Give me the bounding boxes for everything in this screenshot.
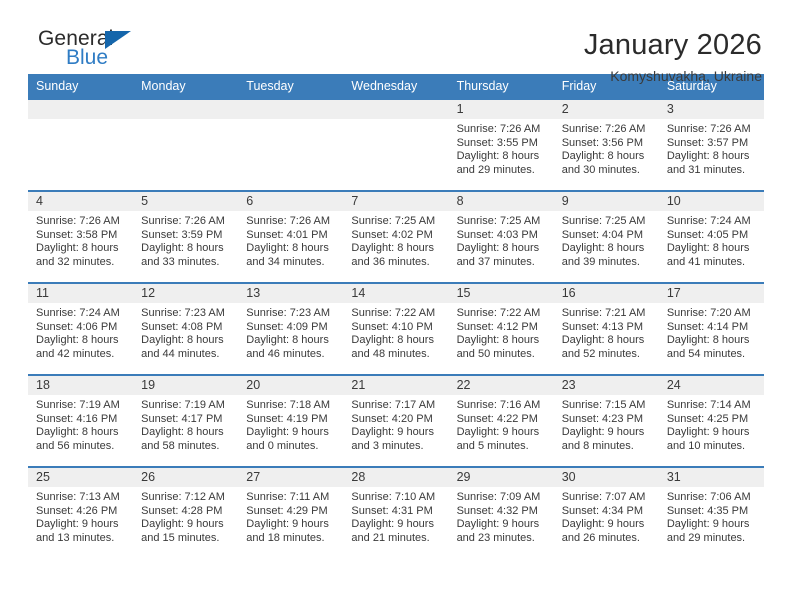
day-detail-line: Daylight: 8 hours <box>667 150 758 164</box>
day-detail-line: and 31 minutes. <box>667 164 758 178</box>
day-number: 17 <box>659 284 764 303</box>
day-number: 28 <box>343 468 448 487</box>
day-sun-details: Sunrise: 7:22 AMSunset: 4:12 PMDaylight:… <box>449 303 554 361</box>
day-detail-line: Daylight: 8 hours <box>141 334 232 348</box>
day-sun-details: Sunrise: 7:26 AMSunset: 3:56 PMDaylight:… <box>554 119 659 177</box>
day-detail-line: Sunset: 4:35 PM <box>667 505 758 519</box>
day-cell-inner: 14Sunrise: 7:22 AMSunset: 4:10 PMDayligh… <box>343 284 448 374</box>
calendar-day-cell-empty <box>238 99 343 191</box>
day-detail-line: Sunset: 3:58 PM <box>36 229 127 243</box>
day-sun-details: Sunrise: 7:25 AMSunset: 4:04 PMDaylight:… <box>554 211 659 269</box>
day-sun-details: Sunrise: 7:19 AMSunset: 4:17 PMDaylight:… <box>133 395 238 453</box>
day-number: 26 <box>133 468 238 487</box>
day-detail-line: Daylight: 8 hours <box>36 334 127 348</box>
day-detail-line: and 5 minutes. <box>457 440 548 454</box>
day-detail-line: Sunrise: 7:18 AM <box>246 399 337 413</box>
day-detail-line: and 56 minutes. <box>36 440 127 454</box>
day-detail-line: Sunrise: 7:11 AM <box>246 491 337 505</box>
day-detail-line: Daylight: 9 hours <box>562 518 653 532</box>
day-detail-line: and 58 minutes. <box>141 440 232 454</box>
day-cell-inner: 21Sunrise: 7:17 AMSunset: 4:20 PMDayligh… <box>343 376 448 466</box>
day-detail-line: and 15 minutes. <box>141 532 232 546</box>
calendar-day-cell[interactable]: 20Sunrise: 7:18 AMSunset: 4:19 PMDayligh… <box>238 375 343 467</box>
day-number: 22 <box>449 376 554 395</box>
day-number: 5 <box>133 192 238 211</box>
day-sun-details: Sunrise: 7:23 AMSunset: 4:09 PMDaylight:… <box>238 303 343 361</box>
day-number: 6 <box>238 192 343 211</box>
day-detail-line: Sunrise: 7:12 AM <box>141 491 232 505</box>
calendar-day-cell[interactable]: 15Sunrise: 7:22 AMSunset: 4:12 PMDayligh… <box>449 283 554 375</box>
day-detail-line: Sunrise: 7:26 AM <box>667 123 758 137</box>
calendar-week-row: 11Sunrise: 7:24 AMSunset: 4:06 PMDayligh… <box>28 283 764 375</box>
day-cell-inner: 28Sunrise: 7:10 AMSunset: 4:31 PMDayligh… <box>343 468 448 559</box>
day-detail-line: Daylight: 9 hours <box>351 518 442 532</box>
day-cell-inner: 23Sunrise: 7:15 AMSunset: 4:23 PMDayligh… <box>554 376 659 466</box>
day-cell-inner: 24Sunrise: 7:14 AMSunset: 4:25 PMDayligh… <box>659 376 764 466</box>
day-detail-line: Sunrise: 7:23 AM <box>141 307 232 321</box>
day-detail-line: and 50 minutes. <box>457 348 548 362</box>
day-number: 29 <box>449 468 554 487</box>
calendar-day-cell[interactable]: 9Sunrise: 7:25 AMSunset: 4:04 PMDaylight… <box>554 191 659 283</box>
day-detail-line: Sunset: 4:14 PM <box>667 321 758 335</box>
day-detail-line: and 34 minutes. <box>246 256 337 270</box>
day-detail-line: Daylight: 9 hours <box>457 518 548 532</box>
day-detail-line: Sunset: 4:34 PM <box>562 505 653 519</box>
day-detail-line: Daylight: 9 hours <box>246 426 337 440</box>
day-detail-line: Sunset: 4:09 PM <box>246 321 337 335</box>
day-cell-inner: 16Sunrise: 7:21 AMSunset: 4:13 PMDayligh… <box>554 284 659 374</box>
day-detail-line: and 21 minutes. <box>351 532 442 546</box>
day-detail-line: Sunset: 3:57 PM <box>667 137 758 151</box>
logo-text-blue: Blue <box>38 48 198 68</box>
calendar-day-cell[interactable]: 29Sunrise: 7:09 AMSunset: 4:32 PMDayligh… <box>449 467 554 559</box>
day-number: 7 <box>343 192 448 211</box>
day-detail-line: and 0 minutes. <box>246 440 337 454</box>
day-detail-line: and 39 minutes. <box>562 256 653 270</box>
day-number: 20 <box>238 376 343 395</box>
day-number: 11 <box>28 284 133 303</box>
day-detail-line: Daylight: 8 hours <box>246 242 337 256</box>
calendar-day-cell[interactable]: 12Sunrise: 7:23 AMSunset: 4:08 PMDayligh… <box>133 283 238 375</box>
day-detail-line: Sunset: 4:20 PM <box>351 413 442 427</box>
calendar-day-cell[interactable]: 24Sunrise: 7:14 AMSunset: 4:25 PMDayligh… <box>659 375 764 467</box>
title-block: January 2026 Komyshuvakha, Ukraine <box>584 28 764 86</box>
day-sun-details: Sunrise: 7:07 AMSunset: 4:34 PMDaylight:… <box>554 487 659 545</box>
day-detail-line: Sunset: 4:26 PM <box>36 505 127 519</box>
weekday-header-wednesday: Wednesday <box>343 74 448 99</box>
day-detail-line: and 26 minutes. <box>562 532 653 546</box>
day-detail-line: Sunset: 3:55 PM <box>457 137 548 151</box>
day-detail-line: Sunrise: 7:21 AM <box>562 307 653 321</box>
day-detail-line: Sunset: 4:13 PM <box>562 321 653 335</box>
calendar-day-cell[interactable]: 31Sunrise: 7:06 AMSunset: 4:35 PMDayligh… <box>659 467 764 559</box>
day-detail-line: Daylight: 8 hours <box>141 426 232 440</box>
day-detail-line: Daylight: 9 hours <box>141 518 232 532</box>
calendar-day-cell[interactable]: 17Sunrise: 7:20 AMSunset: 4:14 PMDayligh… <box>659 283 764 375</box>
day-cell-inner: 15Sunrise: 7:22 AMSunset: 4:12 PMDayligh… <box>449 284 554 374</box>
day-cell-inner: 10Sunrise: 7:24 AMSunset: 4:05 PMDayligh… <box>659 192 764 282</box>
calendar-day-cell-empty <box>133 99 238 191</box>
day-sun-details: Sunrise: 7:22 AMSunset: 4:10 PMDaylight:… <box>343 303 448 361</box>
day-sun-details: Sunrise: 7:11 AMSunset: 4:29 PMDaylight:… <box>238 487 343 545</box>
day-cell-inner: 8Sunrise: 7:25 AMSunset: 4:03 PMDaylight… <box>449 192 554 282</box>
day-detail-line: and 44 minutes. <box>141 348 232 362</box>
day-detail-line: Sunrise: 7:07 AM <box>562 491 653 505</box>
day-sun-details: Sunrise: 7:26 AMSunset: 3:55 PMDaylight:… <box>449 119 554 177</box>
day-detail-line: Daylight: 9 hours <box>667 426 758 440</box>
day-detail-line: and 33 minutes. <box>141 256 232 270</box>
calendar-week-row: 4Sunrise: 7:26 AMSunset: 3:58 PMDaylight… <box>28 191 764 283</box>
day-detail-line: Sunset: 4:23 PM <box>562 413 653 427</box>
day-cell-inner: 17Sunrise: 7:20 AMSunset: 4:14 PMDayligh… <box>659 284 764 374</box>
day-detail-line: Sunrise: 7:22 AM <box>351 307 442 321</box>
day-sun-details: Sunrise: 7:18 AMSunset: 4:19 PMDaylight:… <box>238 395 343 453</box>
day-cell-inner: 11Sunrise: 7:24 AMSunset: 4:06 PMDayligh… <box>28 284 133 374</box>
day-detail-line: Daylight: 9 hours <box>246 518 337 532</box>
day-number: 24 <box>659 376 764 395</box>
day-sun-details: Sunrise: 7:20 AMSunset: 4:14 PMDaylight:… <box>659 303 764 361</box>
day-sun-details: Sunrise: 7:24 AMSunset: 4:05 PMDaylight:… <box>659 211 764 269</box>
page-header: General Blue January 2026 Komyshuvakha, … <box>28 0 764 74</box>
day-sun-details: Sunrise: 7:26 AMSunset: 4:01 PMDaylight:… <box>238 211 343 269</box>
day-sun-details <box>28 119 133 123</box>
day-sun-details: Sunrise: 7:17 AMSunset: 4:20 PMDaylight:… <box>343 395 448 453</box>
day-number: 19 <box>133 376 238 395</box>
day-detail-line: Sunset: 4:03 PM <box>457 229 548 243</box>
day-detail-line: Sunset: 3:56 PM <box>562 137 653 151</box>
day-sun-details: Sunrise: 7:12 AMSunset: 4:28 PMDaylight:… <box>133 487 238 545</box>
day-sun-details: Sunrise: 7:21 AMSunset: 4:13 PMDaylight:… <box>554 303 659 361</box>
day-detail-line: Sunset: 4:01 PM <box>246 229 337 243</box>
day-sun-details: Sunrise: 7:09 AMSunset: 4:32 PMDaylight:… <box>449 487 554 545</box>
calendar-day-cell[interactable]: 25Sunrise: 7:13 AMSunset: 4:26 PMDayligh… <box>28 467 133 559</box>
day-sun-details: Sunrise: 7:26 AMSunset: 3:58 PMDaylight:… <box>28 211 133 269</box>
day-detail-line: and 3 minutes. <box>351 440 442 454</box>
general-blue-logo: General Blue <box>28 28 198 80</box>
day-detail-line: and 37 minutes. <box>457 256 548 270</box>
day-detail-line: and 30 minutes. <box>562 164 653 178</box>
day-detail-line: Sunset: 4:08 PM <box>141 321 232 335</box>
day-detail-line: Sunrise: 7:09 AM <box>457 491 548 505</box>
day-detail-line: and 36 minutes. <box>351 256 442 270</box>
day-number: 10 <box>659 192 764 211</box>
day-detail-line: Sunrise: 7:13 AM <box>36 491 127 505</box>
day-number: 31 <box>659 468 764 487</box>
day-detail-line: Sunset: 4:16 PM <box>36 413 127 427</box>
day-cell-inner: 25Sunrise: 7:13 AMSunset: 4:26 PMDayligh… <box>28 468 133 559</box>
day-detail-line: Sunrise: 7:26 AM <box>457 123 548 137</box>
calendar-day-cell[interactable]: 3Sunrise: 7:26 AMSunset: 3:57 PMDaylight… <box>659 99 764 191</box>
day-detail-line: Sunrise: 7:06 AM <box>667 491 758 505</box>
calendar-day-cell[interactable]: 6Sunrise: 7:26 AMSunset: 4:01 PMDaylight… <box>238 191 343 283</box>
day-detail-line: Sunset: 4:05 PM <box>667 229 758 243</box>
day-cell-inner: 29Sunrise: 7:09 AMSunset: 4:32 PMDayligh… <box>449 468 554 559</box>
day-detail-line: Sunrise: 7:26 AM <box>36 215 127 229</box>
day-number: 3 <box>659 100 764 119</box>
calendar-day-cell[interactable]: 21Sunrise: 7:17 AMSunset: 4:20 PMDayligh… <box>343 375 448 467</box>
day-detail-line: and 18 minutes. <box>246 532 337 546</box>
day-cell-inner: 31Sunrise: 7:06 AMSunset: 4:35 PMDayligh… <box>659 468 764 559</box>
day-number <box>343 100 448 119</box>
day-detail-line: Sunrise: 7:23 AM <box>246 307 337 321</box>
day-sun-details: Sunrise: 7:13 AMSunset: 4:26 PMDaylight:… <box>28 487 133 545</box>
day-sun-details: Sunrise: 7:25 AMSunset: 4:02 PMDaylight:… <box>343 211 448 269</box>
day-sun-details: Sunrise: 7:14 AMSunset: 4:25 PMDaylight:… <box>659 395 764 453</box>
day-detail-line: Sunrise: 7:25 AM <box>562 215 653 229</box>
calendar-day-cell[interactable]: 26Sunrise: 7:12 AMSunset: 4:28 PMDayligh… <box>133 467 238 559</box>
day-number <box>133 100 238 119</box>
day-sun-details: Sunrise: 7:06 AMSunset: 4:35 PMDaylight:… <box>659 487 764 545</box>
day-cell-inner <box>238 100 343 190</box>
day-number <box>238 100 343 119</box>
day-detail-line: Daylight: 9 hours <box>562 426 653 440</box>
day-cell-inner: 5Sunrise: 7:26 AMSunset: 3:59 PMDaylight… <box>133 192 238 282</box>
day-detail-line: Daylight: 8 hours <box>562 242 653 256</box>
day-cell-inner: 19Sunrise: 7:19 AMSunset: 4:17 PMDayligh… <box>133 376 238 466</box>
day-detail-line: Daylight: 8 hours <box>562 334 653 348</box>
day-cell-inner <box>133 100 238 190</box>
day-detail-line: Daylight: 9 hours <box>36 518 127 532</box>
day-number: 30 <box>554 468 659 487</box>
day-number: 9 <box>554 192 659 211</box>
day-number: 8 <box>449 192 554 211</box>
day-detail-line: Sunrise: 7:25 AM <box>351 215 442 229</box>
calendar-day-cell[interactable]: 19Sunrise: 7:19 AMSunset: 4:17 PMDayligh… <box>133 375 238 467</box>
day-detail-line: and 54 minutes. <box>667 348 758 362</box>
day-detail-line: Sunrise: 7:26 AM <box>141 215 232 229</box>
calendar-day-cell[interactable]: 27Sunrise: 7:11 AMSunset: 4:29 PMDayligh… <box>238 467 343 559</box>
calendar-grid: SundayMondayTuesdayWednesdayThursdayFrid… <box>28 74 764 559</box>
day-detail-line: Daylight: 8 hours <box>457 334 548 348</box>
day-detail-line: Sunrise: 7:19 AM <box>141 399 232 413</box>
day-sun-details: Sunrise: 7:19 AMSunset: 4:16 PMDaylight:… <box>28 395 133 453</box>
day-detail-line: Sunset: 4:25 PM <box>667 413 758 427</box>
day-detail-line: Daylight: 9 hours <box>667 518 758 532</box>
day-number: 2 <box>554 100 659 119</box>
day-detail-line: Daylight: 9 hours <box>457 426 548 440</box>
day-number: 14 <box>343 284 448 303</box>
day-cell-inner: 12Sunrise: 7:23 AMSunset: 4:08 PMDayligh… <box>133 284 238 374</box>
calendar-day-cell[interactable]: 14Sunrise: 7:22 AMSunset: 4:10 PMDayligh… <box>343 283 448 375</box>
calendar-day-cell[interactable]: 28Sunrise: 7:10 AMSunset: 4:31 PMDayligh… <box>343 467 448 559</box>
day-detail-line: Daylight: 9 hours <box>351 426 442 440</box>
day-cell-inner: 2Sunrise: 7:26 AMSunset: 3:56 PMDaylight… <box>554 100 659 190</box>
day-detail-line: Daylight: 8 hours <box>667 334 758 348</box>
day-cell-inner: 1Sunrise: 7:26 AMSunset: 3:55 PMDaylight… <box>449 100 554 190</box>
day-sun-details <box>343 119 448 123</box>
day-detail-line: Sunrise: 7:25 AM <box>457 215 548 229</box>
day-cell-inner <box>343 100 448 190</box>
calendar-day-cell[interactable]: 8Sunrise: 7:25 AMSunset: 4:03 PMDaylight… <box>449 191 554 283</box>
day-detail-line: and 46 minutes. <box>246 348 337 362</box>
day-detail-line: Daylight: 8 hours <box>457 150 548 164</box>
day-detail-line: Sunset: 4:31 PM <box>351 505 442 519</box>
day-cell-inner: 7Sunrise: 7:25 AMSunset: 4:02 PMDaylight… <box>343 192 448 282</box>
day-number: 27 <box>238 468 343 487</box>
day-detail-line: Sunrise: 7:24 AM <box>36 307 127 321</box>
day-detail-line: Daylight: 8 hours <box>562 150 653 164</box>
day-number: 1 <box>449 100 554 119</box>
day-detail-line: Sunrise: 7:26 AM <box>246 215 337 229</box>
day-cell-inner: 13Sunrise: 7:23 AMSunset: 4:09 PMDayligh… <box>238 284 343 374</box>
calendar-day-cell[interactable]: 30Sunrise: 7:07 AMSunset: 4:34 PMDayligh… <box>554 467 659 559</box>
day-detail-line: and 41 minutes. <box>667 256 758 270</box>
day-cell-inner: 22Sunrise: 7:16 AMSunset: 4:22 PMDayligh… <box>449 376 554 466</box>
calendar-day-cell[interactable]: 11Sunrise: 7:24 AMSunset: 4:06 PMDayligh… <box>28 283 133 375</box>
day-number <box>28 100 133 119</box>
day-detail-line: and 10 minutes. <box>667 440 758 454</box>
day-cell-inner: 27Sunrise: 7:11 AMSunset: 4:29 PMDayligh… <box>238 468 343 559</box>
day-number: 18 <box>28 376 133 395</box>
day-detail-line: and 13 minutes. <box>36 532 127 546</box>
day-sun-details <box>133 119 238 123</box>
day-number: 25 <box>28 468 133 487</box>
day-detail-line: Daylight: 8 hours <box>351 242 442 256</box>
day-detail-line: Sunrise: 7:15 AM <box>562 399 653 413</box>
day-number: 21 <box>343 376 448 395</box>
calendar-day-cell[interactable]: 2Sunrise: 7:26 AMSunset: 3:56 PMDaylight… <box>554 99 659 191</box>
day-detail-line: Sunset: 4:04 PM <box>562 229 653 243</box>
day-detail-line: Sunrise: 7:20 AM <box>667 307 758 321</box>
day-detail-line: and 52 minutes. <box>562 348 653 362</box>
day-number: 16 <box>554 284 659 303</box>
day-detail-line: Daylight: 8 hours <box>457 242 548 256</box>
weekday-header-tuesday: Tuesday <box>238 74 343 99</box>
day-detail-line: Sunset: 4:29 PM <box>246 505 337 519</box>
day-sun-details: Sunrise: 7:16 AMSunset: 4:22 PMDaylight:… <box>449 395 554 453</box>
day-sun-details: Sunrise: 7:24 AMSunset: 4:06 PMDaylight:… <box>28 303 133 361</box>
day-detail-line: Sunrise: 7:22 AM <box>457 307 548 321</box>
day-cell-inner: 9Sunrise: 7:25 AMSunset: 4:04 PMDaylight… <box>554 192 659 282</box>
day-sun-details: Sunrise: 7:26 AMSunset: 3:59 PMDaylight:… <box>133 211 238 269</box>
day-detail-line: Daylight: 8 hours <box>667 242 758 256</box>
day-sun-details: Sunrise: 7:15 AMSunset: 4:23 PMDaylight:… <box>554 395 659 453</box>
day-number: 13 <box>238 284 343 303</box>
day-detail-line: Sunset: 4:02 PM <box>351 229 442 243</box>
day-detail-line: and 32 minutes. <box>36 256 127 270</box>
day-sun-details: Sunrise: 7:26 AMSunset: 3:57 PMDaylight:… <box>659 119 764 177</box>
calendar-day-cell-empty <box>28 99 133 191</box>
calendar-day-cell[interactable]: 13Sunrise: 7:23 AMSunset: 4:09 PMDayligh… <box>238 283 343 375</box>
day-sun-details <box>238 119 343 123</box>
calendar-day-cell[interactable]: 7Sunrise: 7:25 AMSunset: 4:02 PMDaylight… <box>343 191 448 283</box>
day-number: 15 <box>449 284 554 303</box>
calendar-page: General Blue January 2026 Komyshuvakha, … <box>0 0 792 612</box>
day-detail-line: Daylight: 8 hours <box>351 334 442 348</box>
day-cell-inner: 30Sunrise: 7:07 AMSunset: 4:34 PMDayligh… <box>554 468 659 559</box>
day-detail-line: and 29 minutes. <box>667 532 758 546</box>
day-detail-line: Sunset: 4:22 PM <box>457 413 548 427</box>
calendar-day-cell[interactable]: 4Sunrise: 7:26 AMSunset: 3:58 PMDaylight… <box>28 191 133 283</box>
calendar-day-cell[interactable]: 5Sunrise: 7:26 AMSunset: 3:59 PMDaylight… <box>133 191 238 283</box>
day-detail-line: Daylight: 8 hours <box>246 334 337 348</box>
day-cell-inner: 26Sunrise: 7:12 AMSunset: 4:28 PMDayligh… <box>133 468 238 559</box>
day-detail-line: Sunset: 4:32 PM <box>457 505 548 519</box>
day-number: 4 <box>28 192 133 211</box>
calendar-day-cell[interactable]: 18Sunrise: 7:19 AMSunset: 4:16 PMDayligh… <box>28 375 133 467</box>
day-detail-line: and 8 minutes. <box>562 440 653 454</box>
day-detail-line: Sunrise: 7:19 AM <box>36 399 127 413</box>
day-detail-line: Sunset: 3:59 PM <box>141 229 232 243</box>
day-cell-inner: 20Sunrise: 7:18 AMSunset: 4:19 PMDayligh… <box>238 376 343 466</box>
day-detail-line: Sunrise: 7:14 AM <box>667 399 758 413</box>
weekday-header-thursday: Thursday <box>449 74 554 99</box>
day-detail-line: Sunset: 4:06 PM <box>36 321 127 335</box>
day-detail-line: Daylight: 8 hours <box>36 242 127 256</box>
day-detail-line: Sunset: 4:12 PM <box>457 321 548 335</box>
calendar-week-row: 25Sunrise: 7:13 AMSunset: 4:26 PMDayligh… <box>28 467 764 559</box>
day-detail-line: Sunset: 4:17 PM <box>141 413 232 427</box>
day-detail-line: Daylight: 8 hours <box>36 426 127 440</box>
day-detail-line: and 42 minutes. <box>36 348 127 362</box>
calendar-day-cell[interactable]: 10Sunrise: 7:24 AMSunset: 4:05 PMDayligh… <box>659 191 764 283</box>
day-sun-details: Sunrise: 7:23 AMSunset: 4:08 PMDaylight:… <box>133 303 238 361</box>
day-number: 23 <box>554 376 659 395</box>
calendar-week-row: 1Sunrise: 7:26 AMSunset: 3:55 PMDaylight… <box>28 99 764 191</box>
day-detail-line: and 29 minutes. <box>457 164 548 178</box>
day-detail-line: Sunrise: 7:16 AM <box>457 399 548 413</box>
page-title: January 2026 <box>584 28 762 62</box>
day-detail-line: and 23 minutes. <box>457 532 548 546</box>
day-detail-line: Sunrise: 7:24 AM <box>667 215 758 229</box>
day-cell-inner: 6Sunrise: 7:26 AMSunset: 4:01 PMDaylight… <box>238 192 343 282</box>
calendar-day-cell[interactable]: 1Sunrise: 7:26 AMSunset: 3:55 PMDaylight… <box>449 99 554 191</box>
calendar-day-cell[interactable]: 22Sunrise: 7:16 AMSunset: 4:22 PMDayligh… <box>449 375 554 467</box>
logo-triangle-icon <box>105 31 131 49</box>
day-detail-line: Daylight: 8 hours <box>141 242 232 256</box>
calendar-week-row: 18Sunrise: 7:19 AMSunset: 4:16 PMDayligh… <box>28 375 764 467</box>
day-detail-line: Sunrise: 7:17 AM <box>351 399 442 413</box>
day-detail-line: Sunset: 4:28 PM <box>141 505 232 519</box>
day-cell-inner: 3Sunrise: 7:26 AMSunset: 3:57 PMDaylight… <box>659 100 764 190</box>
day-sun-details: Sunrise: 7:10 AMSunset: 4:31 PMDaylight:… <box>343 487 448 545</box>
day-detail-line: Sunset: 4:19 PM <box>246 413 337 427</box>
day-detail-line: and 48 minutes. <box>351 348 442 362</box>
day-detail-line: Sunset: 4:10 PM <box>351 321 442 335</box>
day-cell-inner: 4Sunrise: 7:26 AMSunset: 3:58 PMDaylight… <box>28 192 133 282</box>
day-cell-inner <box>28 100 133 190</box>
day-number: 12 <box>133 284 238 303</box>
calendar-day-cell[interactable]: 23Sunrise: 7:15 AMSunset: 4:23 PMDayligh… <box>554 375 659 467</box>
day-sun-details: Sunrise: 7:25 AMSunset: 4:03 PMDaylight:… <box>449 211 554 269</box>
day-detail-line: Sunrise: 7:10 AM <box>351 491 442 505</box>
day-cell-inner: 18Sunrise: 7:19 AMSunset: 4:16 PMDayligh… <box>28 376 133 466</box>
day-detail-line: Sunrise: 7:26 AM <box>562 123 653 137</box>
calendar-day-cell[interactable]: 16Sunrise: 7:21 AMSunset: 4:13 PMDayligh… <box>554 283 659 375</box>
calendar-day-cell-empty <box>343 99 448 191</box>
